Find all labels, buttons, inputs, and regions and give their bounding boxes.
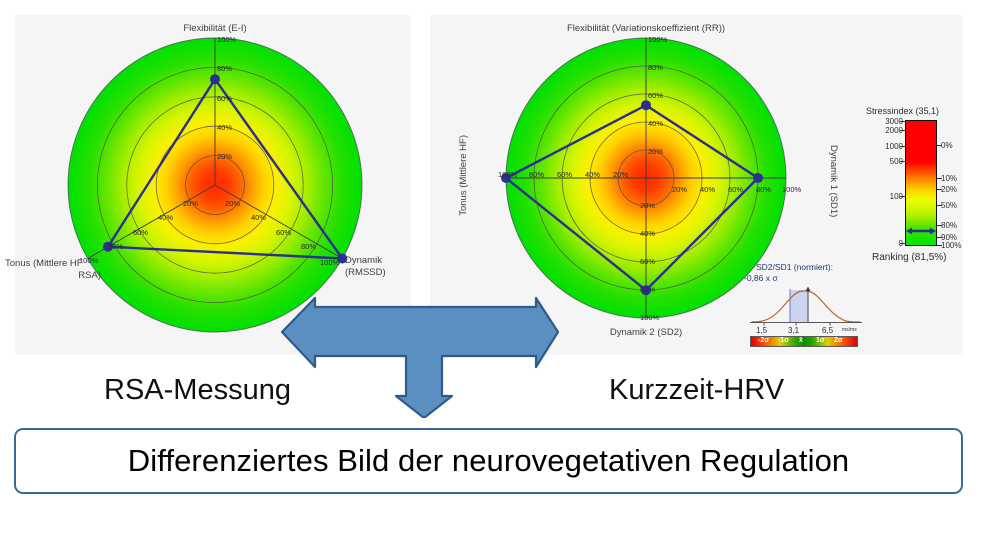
caption-rsa: RSA-Messung	[104, 374, 291, 407]
sd-tick-1: 1,5	[756, 326, 767, 335]
cb-right-0: 0%	[941, 141, 953, 150]
sd-tick-2: 3,1	[788, 326, 799, 335]
sd-inset-title: SD2/SD1 (normiert):	[756, 262, 833, 272]
stress-index-legend[interactable]: Stressindex (35,1) 3000 2000 1000 500 10…	[866, 106, 984, 266]
tick-ll-20: 20%	[183, 199, 198, 208]
sd-inset-value: -0,86 x σ	[744, 273, 778, 283]
tick-up-100: 100%	[217, 35, 236, 44]
tick-rt-60: 60%	[728, 185, 743, 194]
result-box: Differenziertes Bild der neurovegetative…	[14, 428, 963, 494]
tick-lr-100: 100%	[320, 258, 339, 267]
tick-lf-80: 80%	[529, 170, 544, 179]
axis-title-right-line1: Dynamik	[345, 255, 405, 266]
axis-title-top: Flexibilität (E-I)	[137, 23, 293, 34]
cb-left-100: 100	[869, 192, 903, 201]
cb-left-1000: 1000	[869, 142, 903, 151]
legend-footer: Ranking (81,5%)	[872, 252, 946, 263]
axis-title-top: Flexibilität (Variationskoeffizient (RR)…	[516, 23, 776, 34]
tick-up-100: 100%	[648, 35, 667, 44]
legend-title: Stressindex (35,1)	[866, 106, 939, 116]
tick-dn-20: 20%	[640, 201, 655, 210]
cb-left-2000: 2000	[869, 126, 903, 135]
tick-dn-40: 40%	[640, 229, 655, 238]
tick-up-20: 20%	[648, 147, 663, 156]
tick-dn-60: 60%	[640, 257, 655, 266]
normal-distribution-curve	[750, 284, 862, 326]
cb-left-3000: 3000	[869, 117, 903, 126]
tick-up-40: 40%	[648, 119, 663, 128]
cb-left-500: 500	[869, 157, 903, 166]
tick-lr-40: 40%	[251, 213, 266, 222]
sd-ratio-inset[interactable]: SD2/SD1 (normiert): -0,86 x σ 1,5 3,1 6,…	[744, 262, 866, 348]
tick-lr-80: 80%	[301, 242, 316, 251]
tick-up-40: 40%	[217, 123, 232, 132]
cb-right-10: 10%	[941, 174, 957, 183]
cb-right-50: 50%	[941, 201, 957, 210]
ranking-marker-icon	[906, 226, 936, 236]
axis-title-bottom: Dynamik 2 (SD2)	[576, 327, 716, 338]
sd-unit-label: ms/ms	[842, 327, 857, 333]
tick-rt-20: 20%	[672, 185, 687, 194]
tick-dn-80: 80%	[640, 285, 655, 294]
tick-lf-60: 60%	[557, 170, 572, 179]
tick-rt-100: 100%	[782, 185, 801, 194]
tick-ll-40: 40%	[158, 213, 173, 222]
axis-title-left: Tonus (Mittlere HF)	[458, 135, 469, 216]
axis-title-right: Dynamik 1 (SD1)	[828, 145, 839, 217]
tick-lr-20: 20%	[225, 199, 240, 208]
tick-ll-100: 100%	[79, 256, 98, 265]
tick-up-80: 80%	[217, 64, 232, 73]
result-text: Differenziertes Bild der neurovegetative…	[16, 430, 961, 492]
axis-title-right-line2: (RMSSD)	[345, 267, 405, 278]
sigma-label-p1: 1σ	[816, 337, 825, 344]
tri-directional-arrow	[272, 296, 560, 418]
tick-up-80: 80%	[648, 63, 663, 72]
cb-left-0: 0	[869, 239, 903, 248]
cb-right-20: 20%	[941, 185, 957, 194]
tick-ll-80: 80%	[108, 242, 123, 251]
caption-hrv: Kurzzeit-HRV	[609, 374, 784, 407]
tick-lr-60: 60%	[276, 228, 291, 237]
cb-right-80: 80%	[941, 221, 957, 230]
sigma-label-m1: -1σ	[778, 337, 789, 344]
sigma-label-m2: -2σ	[758, 337, 769, 344]
sigma-label-mean: x̄	[799, 337, 803, 344]
tick-lf-100: 100%	[498, 170, 517, 179]
tick-up-60: 60%	[648, 91, 663, 100]
cb-right-100: 100%	[941, 241, 961, 250]
tick-dn-100: 100%	[640, 313, 659, 322]
tick-up-20: 20%	[217, 152, 232, 161]
sigma-label-p2: 2σ	[834, 337, 843, 344]
tick-ll-60: 60%	[133, 228, 148, 237]
tri-arrow-icon	[272, 296, 560, 418]
tick-lf-40: 40%	[585, 170, 600, 179]
tick-rt-40: 40%	[700, 185, 715, 194]
tick-rt-80: 80%	[756, 185, 771, 194]
tick-lf-20: 20%	[613, 170, 628, 179]
axis-title-left-line2: RSA)	[5, 270, 101, 281]
tick-up-60: 60%	[217, 94, 232, 103]
sd-tick-3: 6,5	[822, 326, 833, 335]
